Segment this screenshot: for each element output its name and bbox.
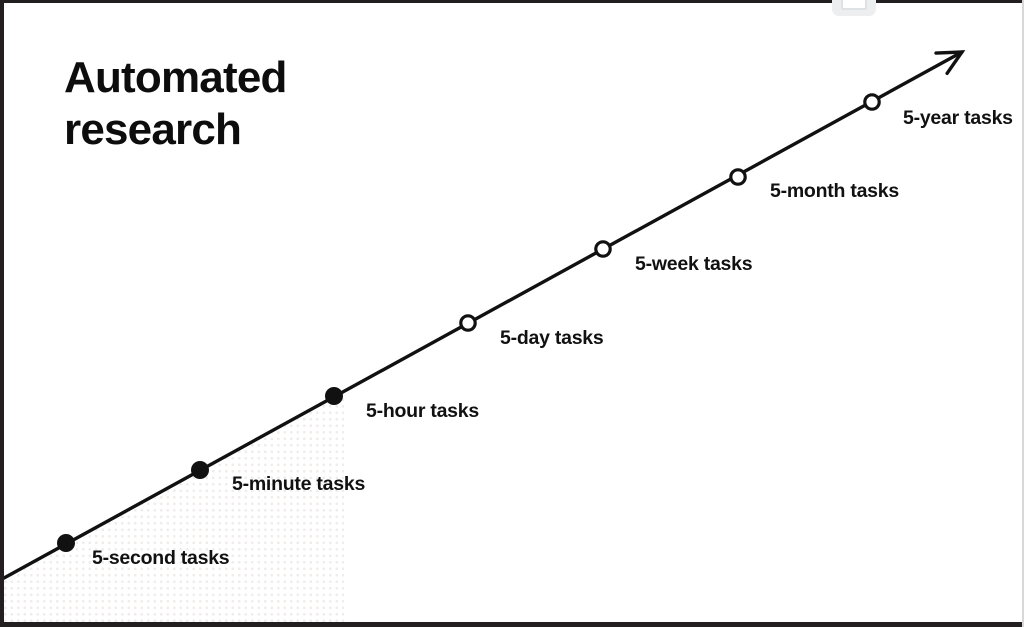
slide-border-left [0,0,4,627]
data-point-marker[interactable] [325,387,343,405]
data-point-marker[interactable] [596,242,610,256]
data-point-marker[interactable] [57,534,75,552]
data-point-marker[interactable] [191,461,209,479]
data-point-label: 5-day tasks [500,327,603,350]
window-control-icon[interactable] [832,0,876,16]
data-point-label: 5-second tasks [92,547,229,570]
data-point-label: 5-week tasks [635,253,752,276]
data-point-label: 5-month tasks [770,180,899,203]
data-point-label: 5-hour tasks [366,400,479,423]
data-point-label: 5-year tasks [903,107,1013,130]
data-point-marker[interactable] [731,170,745,184]
page-title: Automated research [64,52,484,156]
data-point-marker[interactable] [865,95,879,109]
data-point-label: 5-minute tasks [232,473,365,496]
window-control-glyph [841,0,867,10]
slide-canvas: Automated research 5-second tasks5-minut… [0,0,1024,627]
slide-border-bottom [0,622,1024,627]
data-point-marker[interactable] [461,316,475,330]
